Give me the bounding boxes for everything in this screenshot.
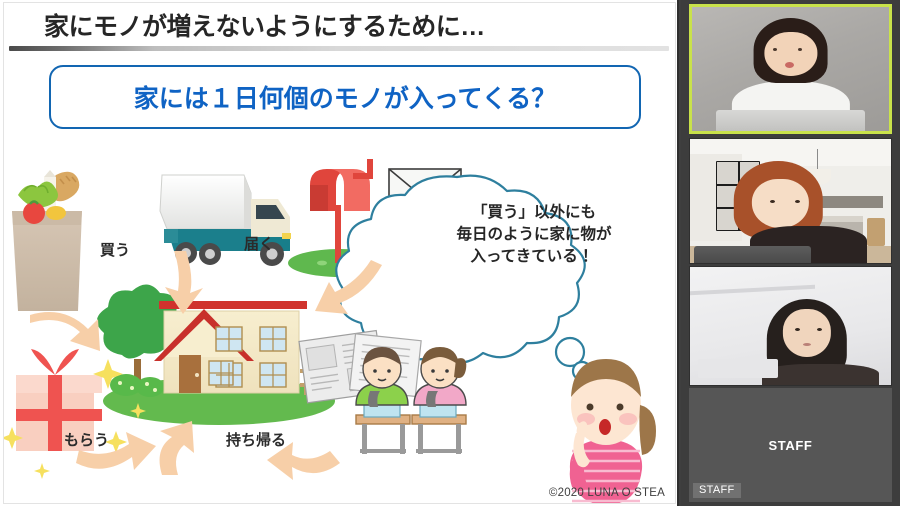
bubble-line-1: 「買う」以外にも: [472, 202, 596, 221]
meeting-screen: 家にモノが増えないようにするために… 家には１日何個のモノが入ってくる？: [0, 0, 900, 506]
label-bring-home-text: 持ち帰る: [226, 431, 286, 449]
participant-mouth-3: [803, 343, 811, 346]
bubble-line-2: 毎日のように家に物が: [456, 224, 612, 243]
screen-share-region[interactable]: 家にモノが増えないようにするために… 家には１日何個のモノが入ってくる？: [0, 0, 679, 506]
question-callout-box: 家には１日何個のモノが入ってくる？: [49, 65, 641, 129]
laptop-3: [698, 359, 778, 378]
label-receive-text: もらう: [64, 432, 109, 449]
participant-video-rail[interactable]: STAFF STAFF: [681, 0, 900, 506]
participant-face-3: [782, 309, 830, 356]
participant-eye-right-2: [795, 200, 800, 203]
page-title: 家にモノが増えないようにするために…: [44, 9, 644, 45]
cycle-diagram-illustration: 買う: [4, 133, 676, 504]
participant-tile-2[interactable]: [689, 138, 892, 264]
presentation-slide: 家にモノが増えないようにするために… 家には１日何個のモノが入ってくる？: [3, 2, 676, 504]
participant-tile-1[interactable]: [689, 4, 892, 134]
participant-face-2: [752, 179, 808, 229]
grocery-bag-icon: [12, 170, 82, 311]
title-divider: [9, 46, 669, 51]
thinking-woman-icon: [570, 359, 656, 504]
video-feed-3: [690, 267, 891, 385]
video-feed-2: [690, 139, 891, 263]
question-text: 家には１日何個のモノが入ってくる？: [51, 67, 639, 127]
participant-eye-left-1: [773, 48, 777, 51]
laptop-2: [694, 246, 811, 263]
house-icon: [97, 284, 336, 425]
label-buy-text: 買う: [100, 242, 130, 259]
copyright-text: ©2020 LUNA O STEA: [549, 487, 665, 499]
laptop-1: [716, 110, 866, 131]
participant-face-1: [764, 32, 817, 77]
label-deliver-text: 届く: [244, 236, 274, 253]
participant-tile-3[interactable]: [689, 266, 892, 386]
bubble-line-3: 入ってきている ！: [470, 247, 597, 265]
participant-shoulders-3: [762, 364, 879, 385]
participant-name-badge: STAFF: [693, 483, 741, 498]
participant-tile-4[interactable]: STAFF STAFF: [689, 388, 892, 502]
participant-mouth-1: [785, 62, 794, 68]
video-feed-1: [692, 7, 889, 131]
